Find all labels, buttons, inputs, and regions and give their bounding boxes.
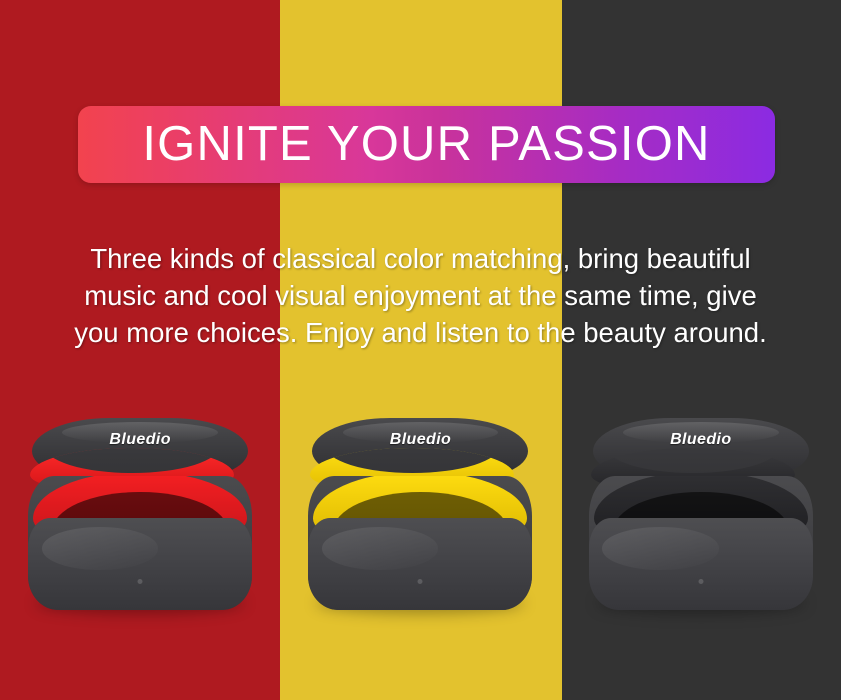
product-row: Bluedio <box>0 414 841 614</box>
product-banner: IGNITE YOUR PASSION Three kinds of class… <box>0 0 841 700</box>
brand-logo: Bluedio <box>312 431 528 449</box>
case-led-indicator <box>698 579 703 584</box>
case-base <box>308 476 532 610</box>
headline-banner: IGNITE YOUR PASSION <box>78 106 775 183</box>
case-front-wall <box>28 518 252 610</box>
case-base <box>589 476 813 610</box>
case-front-gloss <box>42 527 158 569</box>
earbud-case-red: Bluedio <box>24 418 256 610</box>
brand-logo: Bluedio <box>593 431 809 449</box>
case-led-indicator <box>138 579 143 584</box>
body-paragraph: Three kinds of classical color matching,… <box>61 240 781 351</box>
product-slot-black: Bluedio <box>561 414 841 614</box>
earbud-case-yellow: Bluedio <box>304 418 536 610</box>
product-slot-red: Bluedio <box>0 414 280 614</box>
case-front-wall <box>308 518 532 610</box>
product-slot-yellow: Bluedio <box>280 414 560 614</box>
case-base <box>28 476 252 610</box>
brand-logo: Bluedio <box>32 431 248 449</box>
case-front-gloss <box>322 527 438 569</box>
case-front-wall <box>589 518 813 610</box>
headline-text: IGNITE YOUR PASSION <box>142 120 710 169</box>
case-led-indicator <box>418 579 423 584</box>
case-front-gloss <box>602 527 718 569</box>
earbud-case-black: Bluedio <box>585 418 817 610</box>
